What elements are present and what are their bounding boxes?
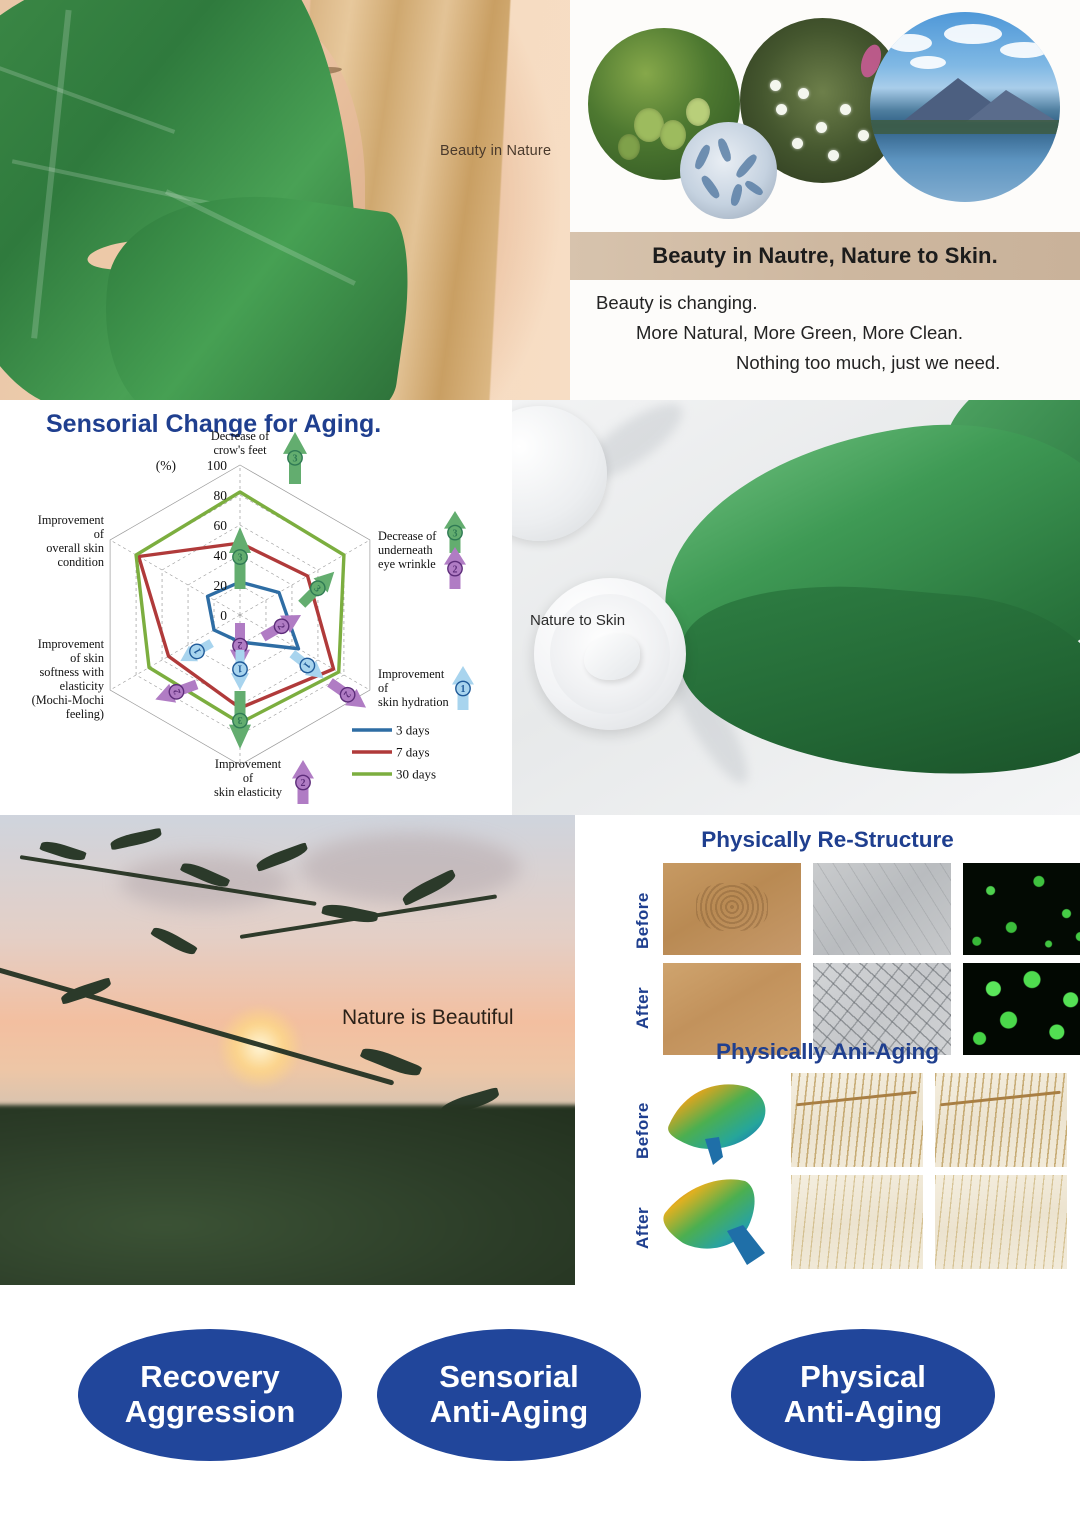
tagline-line-1: Beauty is changing. [570,288,1070,318]
oval-1-line-1: Recovery [140,1359,280,1394]
svg-text:2: 2 [301,778,306,789]
oval-3-line-2: Anti-Aging [784,1394,942,1429]
arrow-badge-1: 1 [452,666,474,710]
radar-tick-labels: 020406080100(%) [156,458,228,623]
benefit-oval-recovery-aggression[interactable]: Recovery Aggression [78,1329,342,1461]
olive-sunset-image [0,815,575,1285]
tagline-line-2: More Natural, More Green, More Clean. [570,318,1070,348]
restructure-before-microscope [813,863,951,955]
antiaging-after-wrinkle-left [791,1175,923,1269]
radar-axis-label-1: Decrease ofunderneatheye wrinkle [378,529,437,571]
radar-tick-40: 40 [214,548,228,563]
restructure-title: Physically Re-Structure [575,827,1080,853]
legend-label-7-days: 7 days [396,745,430,760]
arrow-badge-3: 3 [283,432,307,484]
arrow-badge-2: 2 [152,675,200,709]
svg-text:2: 2 [238,639,243,650]
oval-3-line-1: Physical [800,1359,926,1394]
hero-caption: Beauty in Nature [440,143,551,159]
radar-axis-label-5: Improvementofoverall skincondition [38,513,105,569]
arrow-badge-2: 2 [258,606,306,645]
svg-text:1: 1 [461,684,466,695]
restructure-after-label: After [633,963,653,1029]
svg-text:1: 1 [238,663,243,674]
cream-and-leaf-image [512,400,1080,815]
antiaging-before-wrinkle-right [935,1073,1067,1167]
microscopy-bacteria-photo [680,122,777,219]
restructure-before-skin [663,863,801,955]
radar-axis-label-4: Improvementof skinsoftness withelasticit… [32,637,105,721]
olive-panel-caption: Nature is Beautiful [342,1006,514,1030]
svg-text:3: 3 [238,553,243,564]
radar-tick-20: 20 [214,578,228,593]
physical-results-panel: Physically Re-Structure Before After Phy… [575,815,1080,1285]
arrow-badge-3: 3 [444,511,466,553]
mountain-lake-photo [870,12,1060,202]
antiaging-after-label: After [633,1183,653,1249]
svg-text:3: 3 [453,528,458,539]
cream-panel-caption: Nature to Skin [530,612,625,629]
benefit-oval-physical-anti-aging[interactable]: Physical Anti-Aging [731,1329,995,1461]
benefit-oval-sensorial-anti-aging[interactable]: Sensorial Anti-Aging [377,1329,641,1461]
tagline-block: Beauty is changing. More Natural, More G… [570,280,1080,400]
svg-text:3: 3 [293,453,298,464]
restructure-before-label: Before [633,873,653,949]
radar-tick-0: 0 [220,608,227,623]
hero-model-image: Beauty in Nature [0,0,570,400]
antiaging-before-3d-surface [661,1073,779,1165]
arrow-badge-2: 2 [292,760,314,804]
benefit-ovals-band: Recovery Aggression Sensorial Anti-Aging… [0,1285,1080,1527]
radar-tick-60: 60 [214,518,228,533]
arrow-badge-3: 3 [229,527,251,589]
radar-axis-label-3: Improvementofskin elasticity [214,757,283,799]
sensorial-radar-chart-panel: Sensorial Change for Aging. 332123323222… [0,400,512,815]
headline-text: Beauty in Nautre, Nature to Skin. [652,243,998,269]
antiaging-title: Physically Ani-Aging [575,1039,1080,1065]
radar-tick-80: 80 [214,488,228,503]
arrow-badge-3: 3 [229,691,251,749]
restructure-before-fluorescence [963,863,1080,955]
svg-text:3: 3 [238,714,243,725]
antiaging-after-wrinkle-right [935,1175,1067,1269]
oval-2-line-1: Sensorial [439,1359,579,1394]
tagline-line-3: Nothing too much, just we need. [570,348,1070,378]
foliage-foreground [0,1105,575,1285]
cream-jar-lid [512,406,607,541]
radar-unit-label: (%) [156,458,176,473]
radar-tick-100: 100 [207,458,228,473]
svg-text:2: 2 [453,564,458,575]
antiaging-before-label: Before [633,1083,653,1159]
radar-chart-svg: 332123323222111 020406080100(%) Decrease… [0,430,512,815]
oval-1-line-2: Aggression [125,1394,296,1429]
oval-2-line-2: Anti-Aging [430,1394,588,1429]
arrow-badge-2: 2 [444,547,466,589]
antiaging-before-wrinkle-left [791,1073,923,1167]
headline-banner: Beauty in Nautre, Nature to Skin. [570,232,1080,280]
nature-ingredient-circles [570,0,1080,232]
cream-jar [534,578,686,730]
legend-label-30-days: 30 days [396,767,436,782]
antiaging-after-3d-surface [661,1171,779,1267]
radar-axis-label-2: Improvementofskin hydration [378,667,449,709]
radar-axis-label-0: Decrease ofcrow's feet [211,430,270,457]
legend-label-3-days: 3 days [396,723,430,738]
cream-swirl [584,634,640,680]
radar-legend: 3 days7 days30 days [352,723,436,782]
arrow-badge-2: 2 [324,674,372,716]
